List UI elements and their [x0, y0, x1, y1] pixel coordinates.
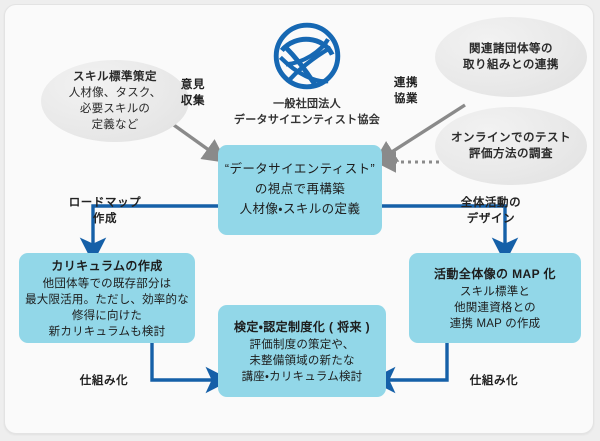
- ellipse-online-test-line2: 評価方法の調査: [469, 146, 553, 162]
- box-certification-line2: 未整備領域の新たな: [249, 353, 354, 369]
- ellipse-skill-standard-line3: 定義など: [92, 117, 139, 133]
- box-activity-map: 活動全体像の MAP 化 スキル標準と 他関連資格との 連携 MAP の作成: [409, 253, 581, 343]
- ellipse-online-test-line1: オンラインでのテスト: [451, 130, 571, 146]
- ellipse-skill-standard: スキル標準策定 人材像、タスク、 必要スキルの 定義など: [41, 60, 189, 142]
- ellipse-online-test-research: オンラインでのテスト 評価方法の調査: [435, 107, 587, 185]
- label-overall-design: 全体活動の デザイン: [447, 195, 535, 227]
- box-activity-map-line2: 他関連資格との: [454, 300, 536, 316]
- box-curriculum-title: カリキュラムの作成: [51, 257, 162, 275]
- ellipse-related-orgs-line1: 関連諸団体等の: [469, 41, 553, 57]
- ellipse-skill-standard-line2: 必要スキルの: [80, 101, 150, 117]
- label-mechanism-left: 仕組み化: [73, 373, 135, 389]
- diagram-card: 一般社団法人 データサイエンティスト協会 スキル標準策定 人材像、タスク、 必要…: [4, 4, 594, 434]
- globe-sphere-logo-icon: [272, 21, 342, 91]
- box-curriculum-line3: 修得に向けた: [72, 308, 142, 324]
- org-name-line2: データサイエンティスト協会: [233, 113, 381, 128]
- box-center-definition: “データサイエンティスト” の視点で再構築 人材像・スキルの定義: [218, 145, 382, 235]
- box-curriculum-line1: 他団体等での既存部分は: [43, 276, 172, 292]
- box-center-line1: “データサイエンティスト”: [225, 160, 375, 179]
- box-activity-map-line3: 連携 MAP の作成: [450, 316, 541, 332]
- ellipse-skill-standard-title: スキル標準策定: [73, 69, 157, 85]
- label-alliance-collaboration: 連携 協業: [386, 75, 426, 107]
- ellipse-skill-standard-line1: 人材像、タスク、: [69, 85, 162, 101]
- box-center-line3: 人材像・スキルの定義: [240, 200, 361, 219]
- box-certification-line1: 評価制度の策定や、: [250, 337, 355, 353]
- label-roadmap-creation: ロードマップ 作成: [61, 195, 149, 227]
- label-opinion-gathering: 意見 収集: [173, 77, 213, 109]
- ellipse-related-orgs-line2: 取り組みとの連携: [463, 57, 559, 73]
- box-curriculum-line4: 新カリキュラムも検討: [49, 324, 166, 340]
- box-curriculum-line2: 最大限活用。ただし、効率的な: [25, 292, 189, 308]
- organization-logo-block: 一般社団法人 データサイエンティスト協会: [233, 21, 381, 128]
- org-name-line1: 一般社団法人: [233, 97, 381, 112]
- box-activity-map-line1: スキル標準と: [460, 284, 530, 300]
- box-certification-system: 検定・認定制度化 ( 将来 ) 評価制度の策定や、 未整備領域の新たな 講座・カ…: [218, 305, 386, 397]
- box-center-line2: の視点で再構築: [255, 180, 345, 199]
- box-curriculum-creation: カリキュラムの作成 他団体等での既存部分は 最大限活用。ただし、効率的な 修得に…: [19, 253, 195, 343]
- label-mechanism-right: 仕組み化: [463, 373, 525, 389]
- box-activity-map-title: 活動全体像の MAP 化: [434, 265, 556, 283]
- box-certification-title: 検定・認定制度化 ( 将来 ): [234, 318, 370, 336]
- ellipse-related-orgs: 関連諸団体等の 取り組みとの連携: [435, 17, 587, 97]
- box-certification-line3: 講座・カリキュラム検討: [242, 369, 363, 385]
